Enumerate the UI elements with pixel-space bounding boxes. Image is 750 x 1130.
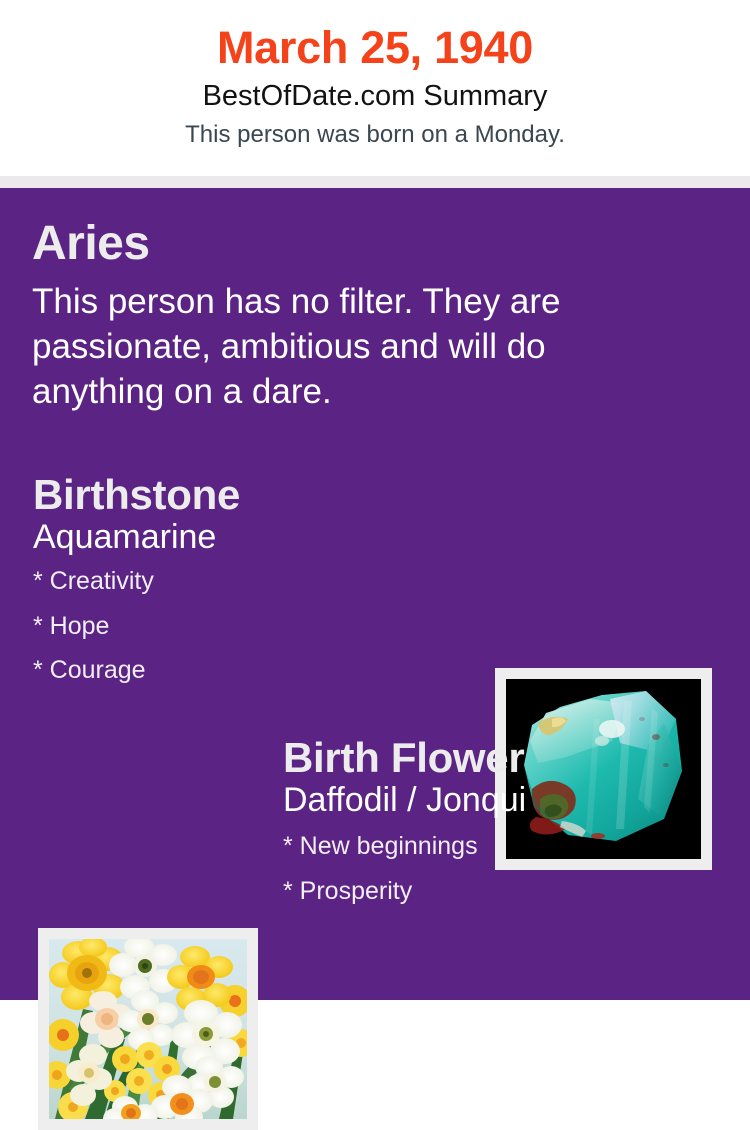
birthstone-name: Aquamarine bbox=[33, 517, 473, 556]
header: March 25, 1940 BestOfDate.com Summary Th… bbox=[0, 0, 750, 176]
site-summary-label: BestOfDate.com Summary bbox=[0, 71, 750, 113]
birthstone-section: Birthstone Aquamarine * Creativity * Hop… bbox=[0, 473, 750, 693]
zodiac-section: Aries This person has no filter. They ar… bbox=[32, 220, 672, 414]
page-title-date: March 25, 1940 bbox=[0, 0, 750, 71]
birth-weekday-note: This person was born on a Monday. bbox=[0, 113, 750, 148]
list-item: * Hope bbox=[33, 604, 473, 649]
list-item: * Courage bbox=[33, 648, 473, 693]
list-item: * New beginnings bbox=[283, 824, 733, 869]
birthflower-section: Birth Flower Daffodil / Jonqui * New beg… bbox=[0, 736, 750, 951]
birthflower-trait-list: * New beginnings * Prosperity bbox=[283, 818, 733, 913]
birthstone-title: Birthstone bbox=[33, 473, 473, 517]
zodiac-sign-title: Aries bbox=[32, 220, 672, 268]
birthflower-photo-frame bbox=[38, 928, 258, 1130]
header-divider bbox=[0, 176, 750, 188]
daffodil-flowers-icon bbox=[49, 939, 247, 1119]
birthday-summary-infographic: March 25, 1940 BestOfDate.com Summary Th… bbox=[0, 0, 750, 1000]
birthflower-name: Daffodil / Jonqui bbox=[283, 780, 733, 819]
birthflower-text-block: Birth Flower Daffodil / Jonqui * New beg… bbox=[283, 736, 733, 913]
list-item: * Creativity bbox=[33, 559, 473, 604]
birthstone-trait-list: * Creativity * Hope * Courage bbox=[33, 555, 473, 693]
birthstone-text-block: Birthstone Aquamarine * Creativity * Hop… bbox=[33, 473, 473, 693]
list-item: * Prosperity bbox=[283, 869, 733, 914]
birthflower-title: Birth Flower bbox=[283, 736, 733, 780]
zodiac-description: This person has no filter. They are pass… bbox=[32, 268, 647, 414]
content-panel: Aries This person has no filter. They ar… bbox=[0, 188, 750, 1000]
birthflower-photo bbox=[49, 939, 247, 1119]
